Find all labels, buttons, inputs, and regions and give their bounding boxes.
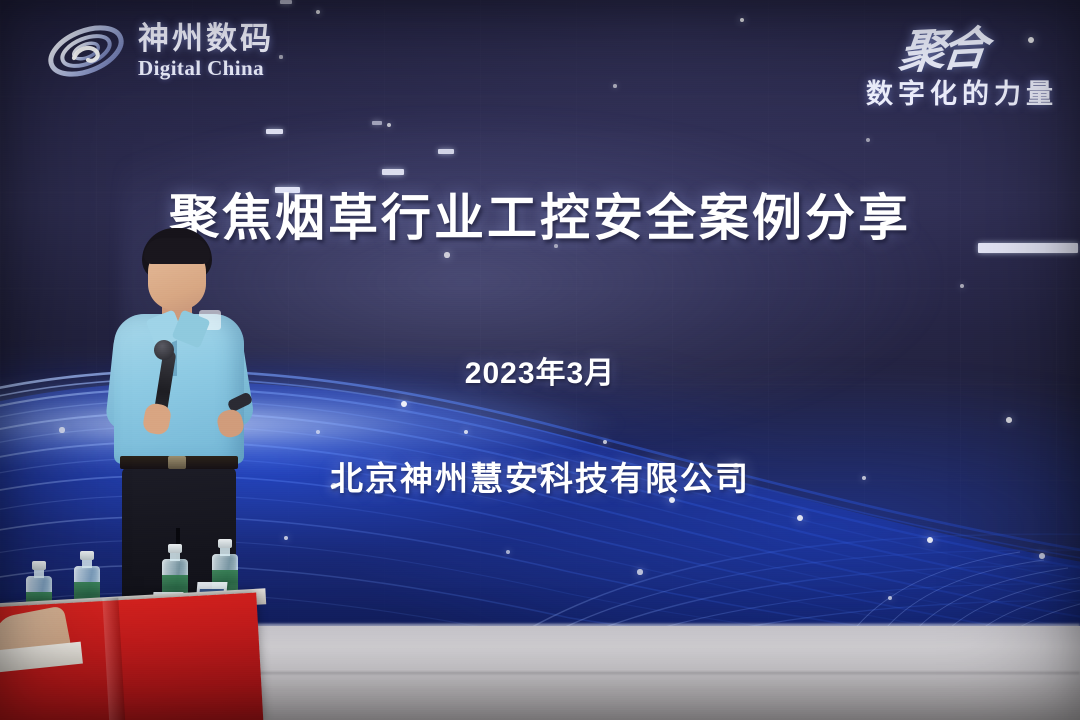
brand-name-cn: 神州数码 bbox=[138, 23, 274, 54]
brand-logo-block: 神州数码 Digital China bbox=[44, 18, 274, 84]
speaker-hair-fringe bbox=[144, 238, 210, 264]
bottle-cap bbox=[80, 551, 94, 560]
event-slogan-block: 聚合 数字化的力量 bbox=[866, 14, 1058, 111]
bottle-cap bbox=[168, 544, 182, 553]
bottle-cap bbox=[32, 561, 46, 570]
bottle-cap bbox=[218, 539, 232, 548]
brand-name-en: Digital China bbox=[138, 58, 274, 79]
conference-photo-stage: 神州数码 Digital China 聚合 数字化的力量 聚焦烟草行业工控安全案… bbox=[0, 0, 1080, 720]
speaker-belt-buckle bbox=[168, 456, 186, 469]
digital-china-spiral-logo-icon bbox=[44, 18, 128, 84]
brand-wordmark: 神州数码 Digital China bbox=[138, 23, 274, 79]
slogan-brush-text: 聚合 bbox=[896, 12, 988, 82]
